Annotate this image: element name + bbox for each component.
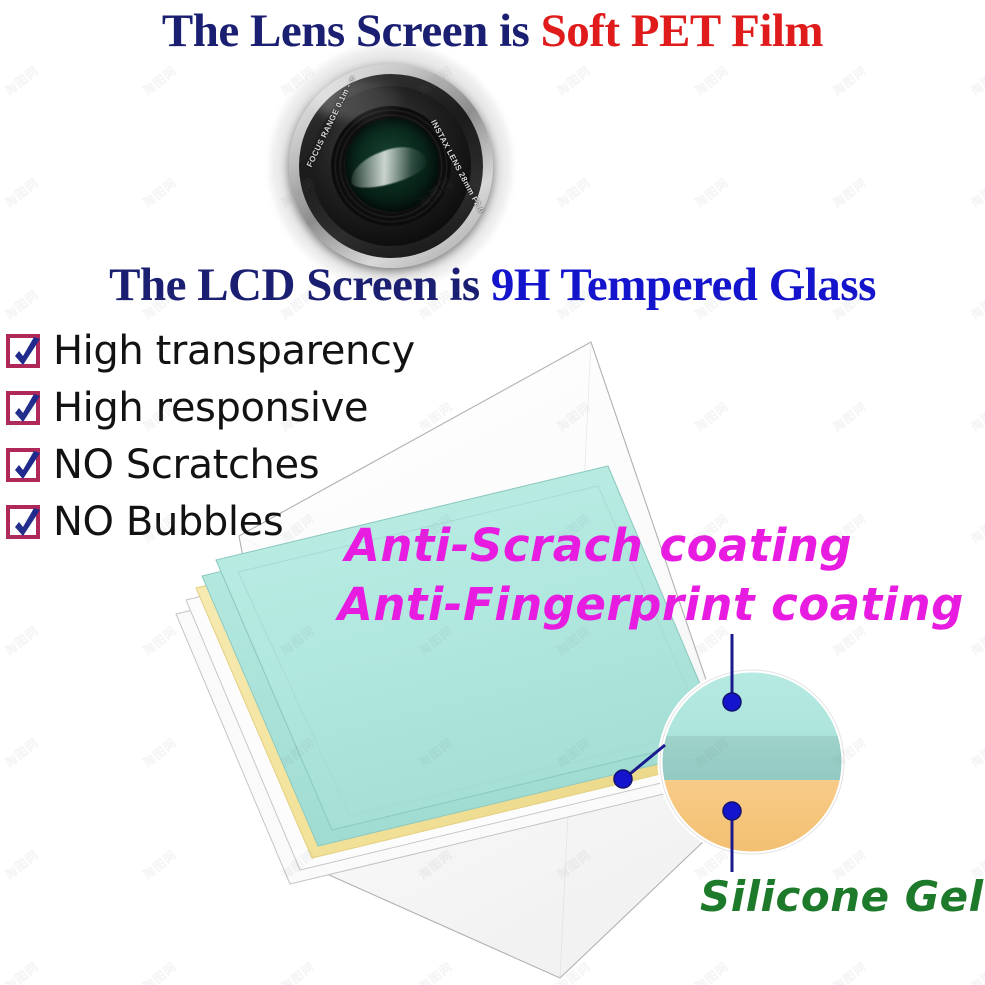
check-icon [11,394,43,430]
feature-row-high-responsive[interactable]: High responsive [6,379,415,436]
headline-lens-screen: The Lens Screen is Soft PET Film [0,4,985,58]
headline-lcd-emphasis: 9H Tempered Glass [491,259,876,311]
magnifier-layer-coating [660,736,844,780]
feature-label-high-transparency: High transparency [53,331,415,371]
headline-lens-prefix: The Lens Screen is [162,5,541,57]
annotation-anti-fingerprint: Anti-Fingerprint coating [338,578,964,631]
annotation-silicone-gel: Silicone Gel [700,872,984,921]
check-icon [11,508,43,544]
lens-highlight [313,80,403,120]
checkbox-no-bubbles[interactable] [6,505,40,539]
checkbox-high-transparency[interactable] [6,334,40,368]
checkbox-high-responsive[interactable] [6,391,40,425]
checkbox-no-scratches[interactable] [6,448,40,482]
infographic-page: The Lens Screen is Soft PET Film The LCD… [0,0,985,985]
feature-checklist: High transparency High responsive NO Scr… [6,322,415,550]
headline-lens-emphasis: Soft PET Film [541,5,823,57]
headline-lcd-prefix: The LCD Screen is [109,259,491,311]
headline-lcd-screen: The LCD Screen is 9H Tempered Glass [0,258,985,312]
feature-label-no-bubbles: NO Bubbles [53,502,283,542]
annotation-anti-scratch: Anti-Scrach coating [345,519,852,572]
feature-row-no-scratches[interactable]: NO Scratches [6,436,415,493]
check-icon [11,451,43,487]
check-icon [11,337,43,373]
feature-label-no-scratches: NO Scratches [53,445,319,485]
feature-label-high-responsive: High responsive [53,388,368,428]
feature-row-high-transparency[interactable]: High transparency [6,322,415,379]
camera-lens-image: FOCUS RANGE 0.1m - ∞ INSTAX LENS 28mm F2… [283,58,499,274]
